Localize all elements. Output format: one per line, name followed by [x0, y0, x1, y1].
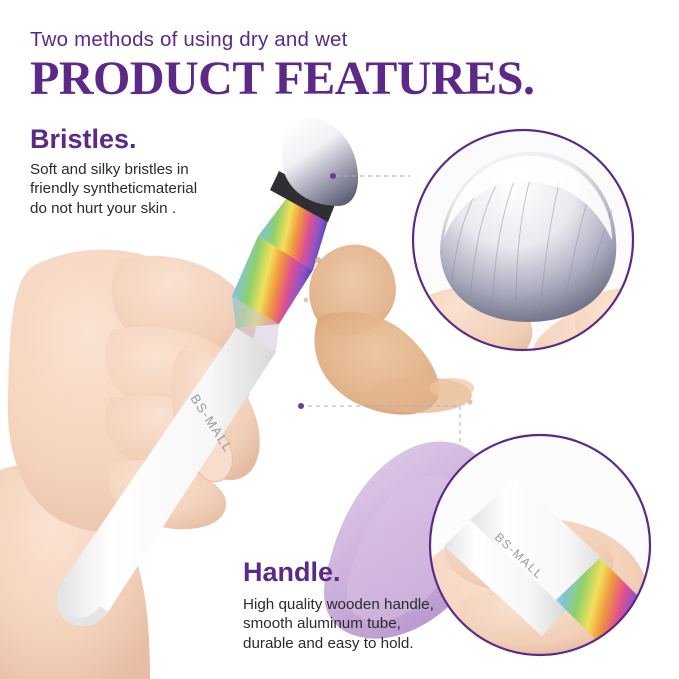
leader-dot-handle: [298, 403, 304, 409]
section-heading-handle: Handle.: [243, 557, 341, 588]
callout-leader-lines: [300, 176, 460, 452]
svg-text:BS-MALL: BS-MALL: [492, 530, 546, 582]
svg-text:BS-MALL: BS-MALL: [187, 391, 236, 455]
bristle-closeup-inset: [408, 130, 679, 412]
page-title: PRODUCT FEATURES.: [30, 51, 534, 106]
header-subtitle: Two methods of using dry and wet: [30, 28, 347, 52]
leader-dot-bristles: [330, 173, 336, 179]
section-heading-bristles: Bristles.: [30, 124, 137, 155]
section-body-bristles: Soft and silky bristles in friendly synt…: [30, 160, 197, 218]
loose-powder-spill: [304, 245, 474, 418]
section-body-handle: High quality wooden handle, smooth alumi…: [243, 595, 434, 653]
product-feature-infographic: BS-MALL: [0, 0, 679, 679]
handle-closeup-inset: BS-MALL: [427, 435, 660, 678]
